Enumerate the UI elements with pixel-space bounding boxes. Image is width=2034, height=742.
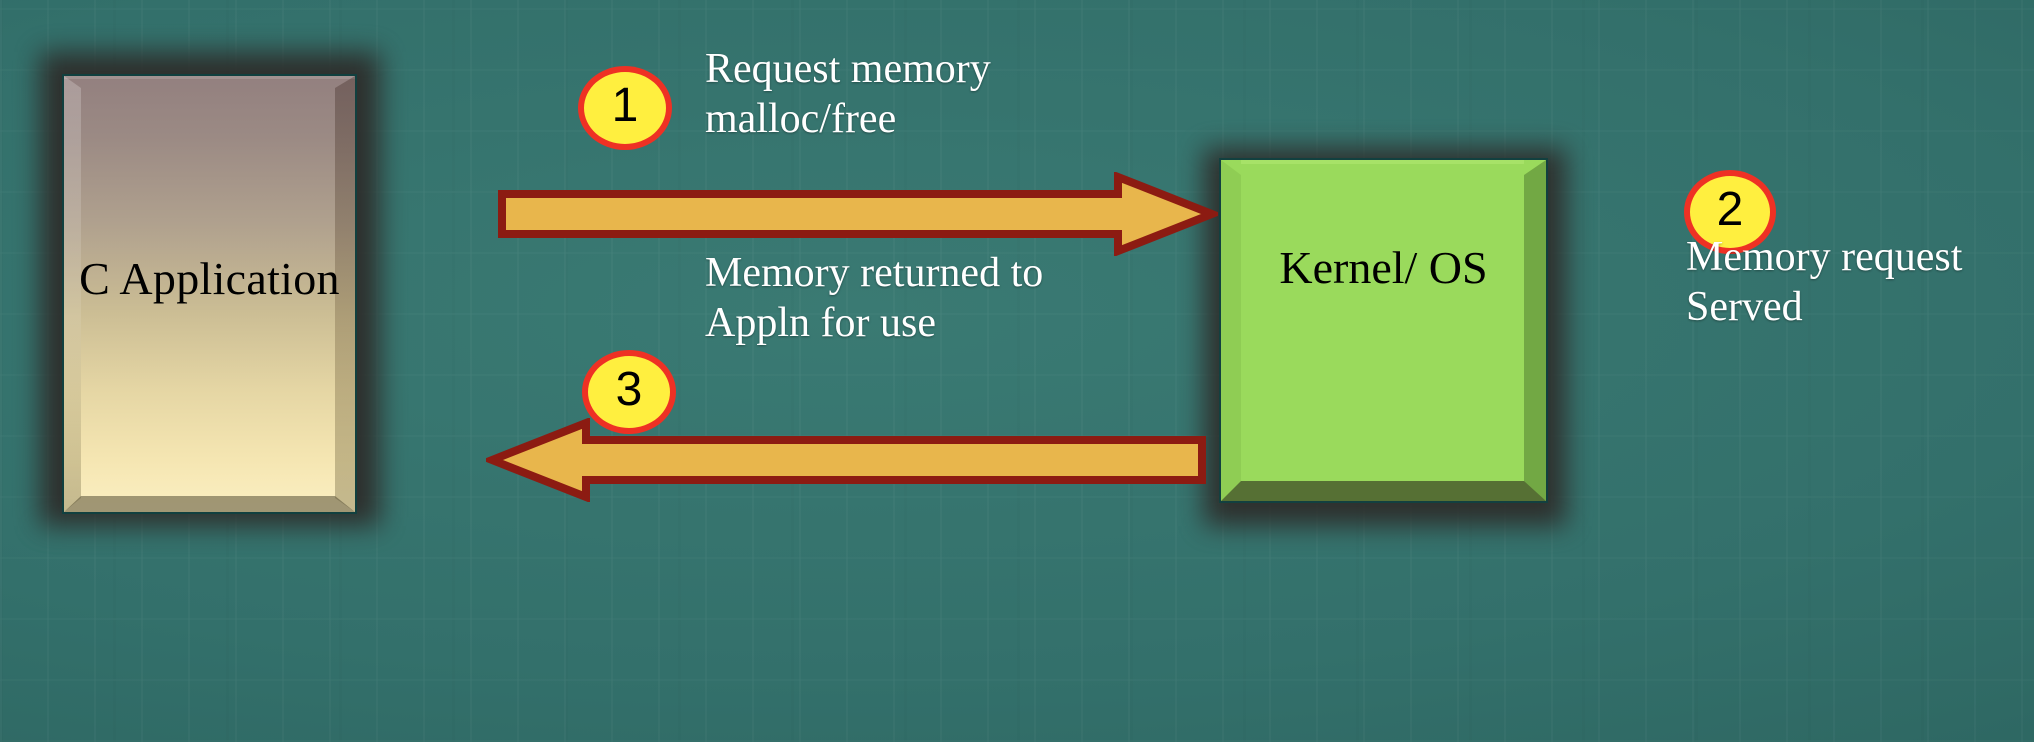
c-application-label: C Application — [64, 252, 355, 306]
app-box-top-bevel — [64, 76, 355, 79]
request-arrow-right[interactable] — [498, 172, 1218, 256]
step-number-3[interactable]: 3 — [582, 350, 676, 434]
step-1-caption: Request memory malloc/free — [705, 44, 1175, 145]
kernel-box-bottom-bevel — [1221, 481, 1546, 501]
step-3-caption: Memory returned to Appln for use — [705, 248, 1225, 349]
app-box-bottom-bevel — [64, 496, 355, 512]
kernel-box-top-bevel — [1221, 160, 1546, 164]
return-arrow-shape — [492, 423, 1202, 497]
return-arrow-left[interactable] — [486, 418, 1206, 502]
request-arrow-shape — [502, 177, 1212, 251]
kernel-os-label: Kernel/ OS — [1221, 238, 1546, 298]
kernel-box-right-bevel — [1524, 160, 1546, 501]
step-2-caption: Memory request Served — [1686, 232, 2034, 333]
step-number-1[interactable]: 1 — [578, 66, 672, 150]
c-application-box[interactable]: C Application — [62, 74, 357, 514]
kernel-os-box[interactable]: Kernel/ OS — [1219, 158, 1548, 503]
diagram-canvas: C Application Kernel/ OS 1 2 3 Request m… — [0, 0, 2034, 742]
